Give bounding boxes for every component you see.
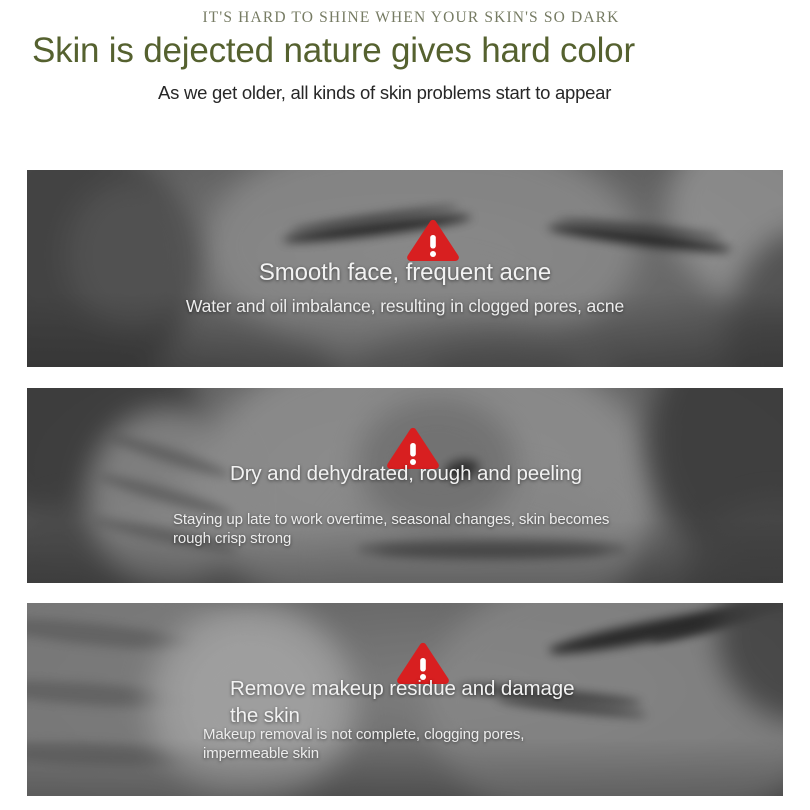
panel-title: Dry and dehydrated, rough and peeling: [230, 460, 610, 487]
panel-title: Smooth face, frequent acne: [27, 258, 783, 288]
panel-body: Water and oil imbalance, resulting in cl…: [27, 295, 783, 318]
panel-body: Makeup removal is not complete, clogging…: [203, 725, 603, 763]
warning-triangle-icon: [405, 218, 461, 262]
problem-panel-list: Smooth face, frequent acne Water and oil…: [0, 0, 810, 810]
problem-panel-acne[interactable]: Smooth face, frequent acne Water and oil…: [27, 170, 783, 367]
page-subtitle: As we get older, all kinds of skin probl…: [0, 81, 810, 105]
problem-panel-makeup-residue[interactable]: Remove makeup residue and damage the ski…: [27, 603, 783, 796]
page-header: IT'S HARD TO SHINE WHEN YOUR SKIN'S SO D…: [0, 0, 810, 105]
problem-panel-dryness[interactable]: Dry and dehydrated, rough and peeling St…: [27, 388, 783, 583]
panel-title: Remove makeup residue and damage the ski…: [230, 675, 590, 729]
eyebrow-text: IT'S HARD TO SHINE WHEN YOUR SKIN'S SO D…: [0, 8, 810, 28]
panel-body: Staying up late to work overtime, season…: [173, 510, 623, 548]
page-title: Skin is dejected nature gives hard color: [0, 31, 712, 70]
